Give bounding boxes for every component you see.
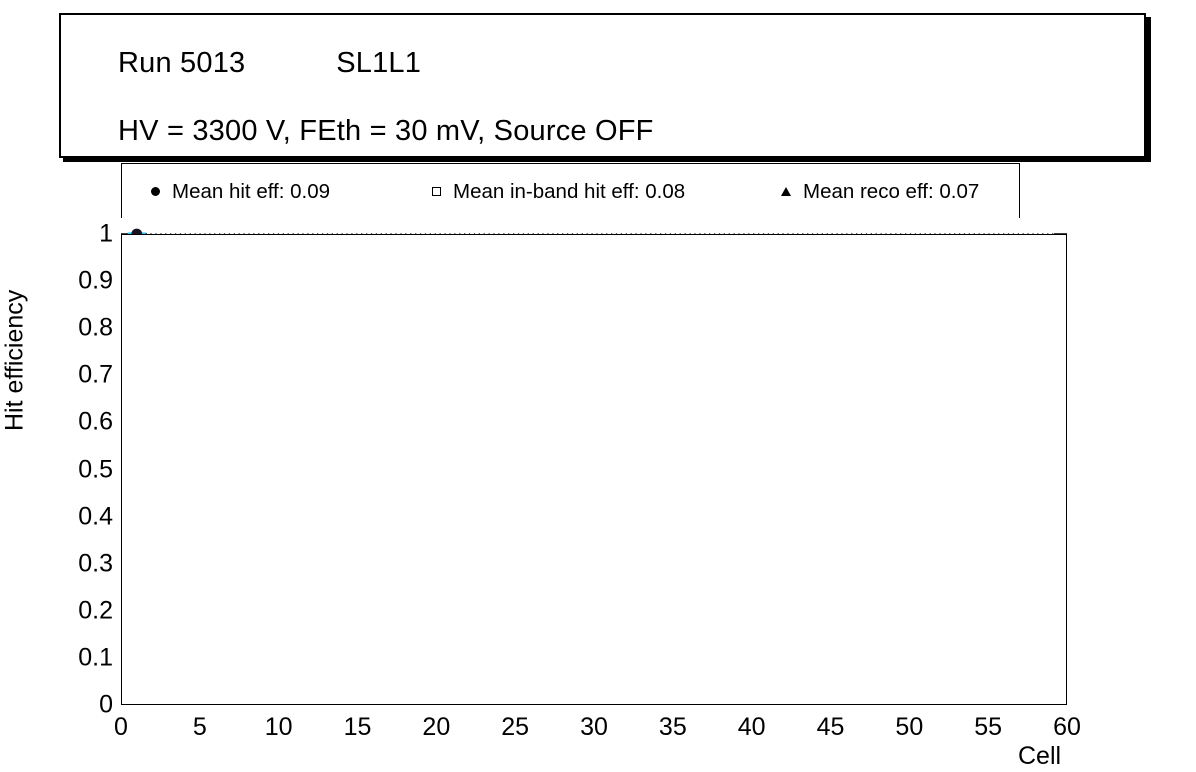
stats-box: Run 5013 SL1L1 HV = 3300 V, FEth = 30 mV… (59, 13, 1146, 158)
y-tick-label: 0.4 (78, 502, 113, 531)
y-tick-label: 0.5 (78, 455, 113, 484)
x-tick-label: 55 (974, 713, 1002, 742)
x-tick-label: 20 (422, 713, 450, 742)
x-tick-label: 0 (114, 713, 128, 742)
plot-frame (121, 234, 1067, 705)
x-tick-label: 25 (501, 713, 529, 742)
y-tick-label: 0 (99, 691, 113, 720)
x-tick-label: 60 (1053, 713, 1081, 742)
x-tick-label: 10 (265, 713, 293, 742)
y-tick-label: 0.3 (78, 549, 113, 578)
filled-triangle-icon (769, 187, 803, 196)
x-tick-label: 5 (193, 713, 207, 742)
y-tick-label: 0.2 (78, 596, 113, 625)
legend-entry-mean-inband-hit-eff[interactable]: Mean in-band hit eff: 0.08 (419, 164, 685, 219)
x-tick-label: 30 (580, 713, 608, 742)
x-tick-label: 40 (738, 713, 766, 742)
x-tick-label: 15 (344, 713, 372, 742)
y-tick-label: 0.9 (78, 267, 113, 296)
legend: Mean hit eff: 0.09 Mean in-band hit eff:… (121, 163, 1020, 218)
open-square-icon (419, 187, 453, 196)
plot-area (121, 234, 1067, 705)
y-tick-label: 1 (99, 220, 113, 249)
legend-entry-mean-reco-eff[interactable]: Mean reco eff: 0.07 (769, 164, 979, 219)
x-tick-label: 35 (659, 713, 687, 742)
y-tick-label: 0.1 (78, 643, 113, 672)
y-tick-label: 0.8 (78, 314, 113, 343)
x-axis-title: Cell (1018, 742, 1061, 771)
stats-run-label: Run 5013 SL1L1 (118, 47, 421, 80)
legend-label: Mean reco eff: 0.07 (803, 180, 979, 204)
x-axis-tick-labels: 051015202530354045505560 (121, 713, 1067, 745)
stats-conditions-label: HV = 3300 V, FEth = 30 mV, Source OFF (118, 115, 654, 148)
legend-entry-mean-hit-eff[interactable]: Mean hit eff: 0.09 (138, 164, 330, 219)
y-axis-tick-labels: 00.10.20.30.40.50.60.70.80.91 (0, 234, 113, 705)
y-tick-label: 0.7 (78, 361, 113, 390)
legend-label: Mean hit eff: 0.09 (172, 180, 330, 204)
x-tick-label: 45 (817, 713, 845, 742)
filled-circle-icon (138, 187, 172, 196)
x-tick-label: 50 (895, 713, 923, 742)
y-tick-label: 0.6 (78, 408, 113, 437)
stats-box-shadow-vertical (1146, 17, 1151, 162)
legend-label: Mean in-band hit eff: 0.08 (453, 180, 685, 204)
